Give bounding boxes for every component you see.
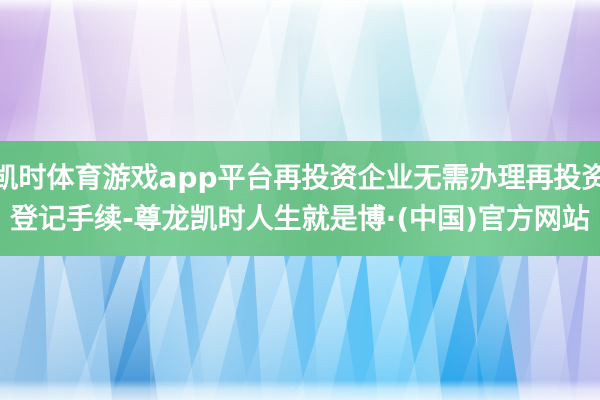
headline-line-2: 登记手续-尊龙凯时人生就是博·(中国)官方网站 [10,200,590,238]
top-band-sheen [0,0,600,141]
top-pastel-band [0,0,600,141]
headline-block: 凯时体育游戏app平台再投资企业无需办理再投资 登记手续-尊龙凯时人生就是博·(… [0,141,600,256]
blue-facet-shapes [0,256,600,400]
green-title-band: 凯时体育游戏app平台再投资企业无需办理再投资 登记手续-尊龙凯时人生就是博·(… [0,141,600,256]
headline-line-1: 凯时体育游戏app平台再投资企业无需办理再投资 [0,159,600,197]
bottom-blue-band: · · · [0,256,600,400]
watermark-text: · · · [291,382,310,392]
promo-banner: 凯时体育游戏app平台再投资企业无需办理再投资 登记手续-尊龙凯时人生就是博·(… [0,0,600,400]
